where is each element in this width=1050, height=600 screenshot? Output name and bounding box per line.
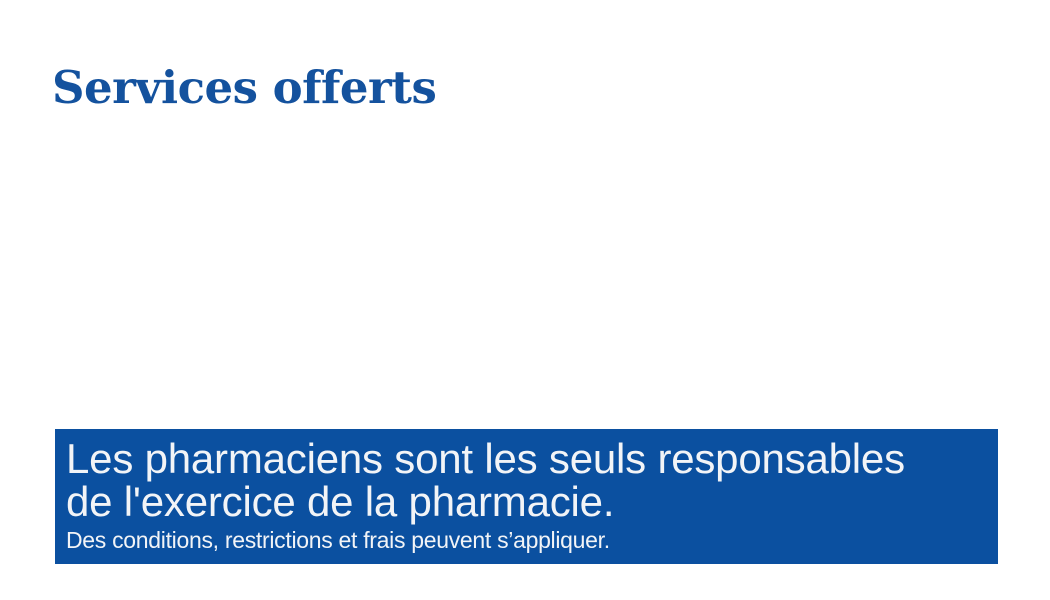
callout-subtext: Des conditions, restrictions et frais pe… bbox=[66, 527, 986, 553]
callout-banner: Les pharmaciens sont les seuls responsab… bbox=[55, 429, 998, 564]
callout-headline: Les pharmaciens sont les seuls responsab… bbox=[66, 437, 986, 523]
callout-headline-line-2: de l'exercice de la pharmacie. bbox=[66, 480, 986, 523]
slide-content-area bbox=[55, 130, 998, 420]
page-title: Services offerts bbox=[52, 62, 436, 114]
slide: Services offerts Les pharmaciens sont le… bbox=[0, 0, 1050, 600]
callout-headline-line-1: Les pharmaciens sont les seuls responsab… bbox=[66, 437, 986, 480]
